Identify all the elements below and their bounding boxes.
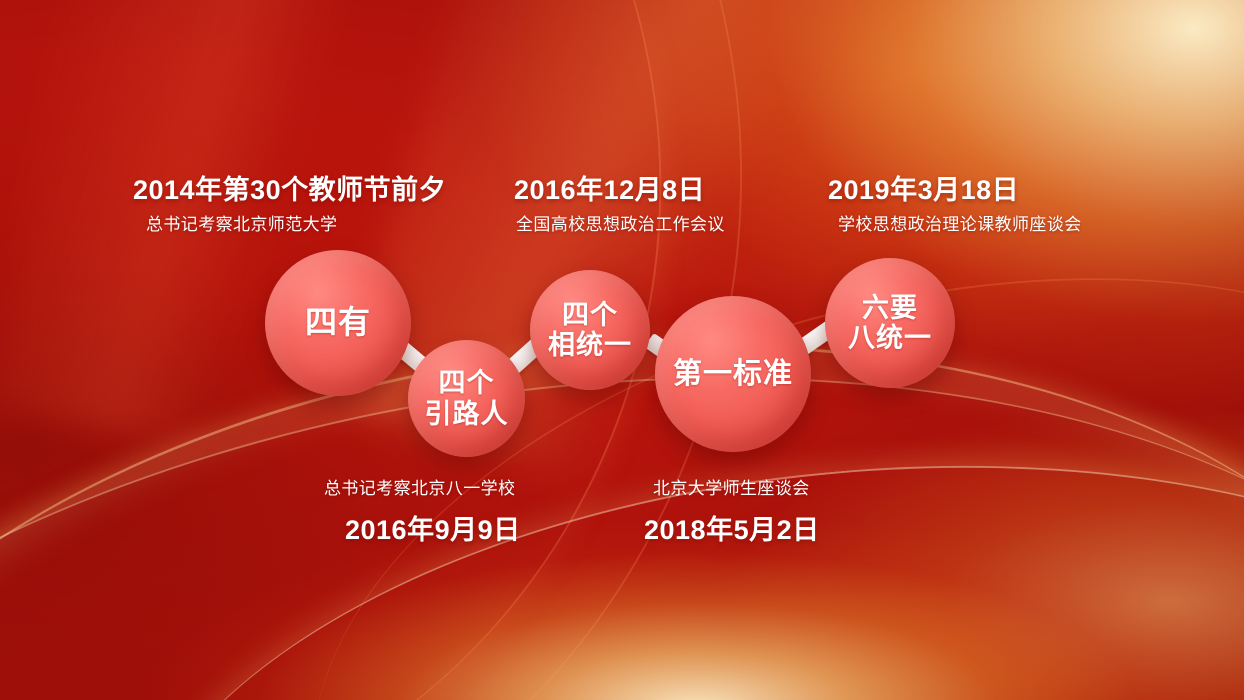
caption-bottom-2-date: 2018年5月2日: [644, 508, 820, 547]
node-sige-xiangtongyi-line2: 相统一: [548, 330, 632, 360]
node-sige-yinluren[interactable]: 四个 引路人: [408, 340, 525, 457]
node-sige-yinluren-line2: 引路人: [425, 399, 509, 429]
node-sige-yinluren-line1: 四个: [425, 368, 509, 398]
caption-top-1-desc: 总书记考察北京师范大学: [146, 210, 337, 235]
caption-bottom-1-desc: 总书记考察北京八一学校: [324, 474, 515, 499]
node-siyou[interactable]: 四有: [265, 250, 411, 396]
caption-top-2-date: 2016年12月8日: [514, 168, 705, 207]
caption-top-3-date: 2019年3月18日: [828, 168, 1019, 207]
caption-top-3-desc: 学校思想政治理论课教师座谈会: [838, 210, 1082, 235]
node-sige-xiangtongyi[interactable]: 四个 相统一: [530, 270, 650, 390]
node-liuyao-batongyi-line1: 六要: [848, 293, 932, 323]
node-siyou-line1: 四有: [305, 305, 371, 341]
timeline-diagram: 四有 四个 引路人 四个 相统一 第一标准 六要 八统一: [0, 0, 1244, 700]
caption-bottom-1-date: 2016年9月9日: [345, 508, 521, 547]
node-sige-xiangtongyi-line1: 四个: [548, 300, 632, 330]
node-diyi-biaozhun[interactable]: 第一标准: [655, 296, 811, 452]
node-liuyao-batongyi[interactable]: 六要 八统一: [825, 258, 955, 388]
caption-bottom-2-desc: 北京大学师生座谈会: [653, 474, 810, 499]
slide-canvas: 四有 四个 引路人 四个 相统一 第一标准 六要 八统一: [0, 0, 1244, 700]
caption-top-2-desc: 全国高校思想政治工作会议: [516, 210, 725, 235]
node-liuyao-batongyi-line2: 八统一: [848, 323, 932, 353]
caption-top-1-date: 2014年第30个教师节前夕: [133, 168, 446, 207]
node-diyi-biaozhun-line1: 第一标准: [673, 358, 793, 390]
